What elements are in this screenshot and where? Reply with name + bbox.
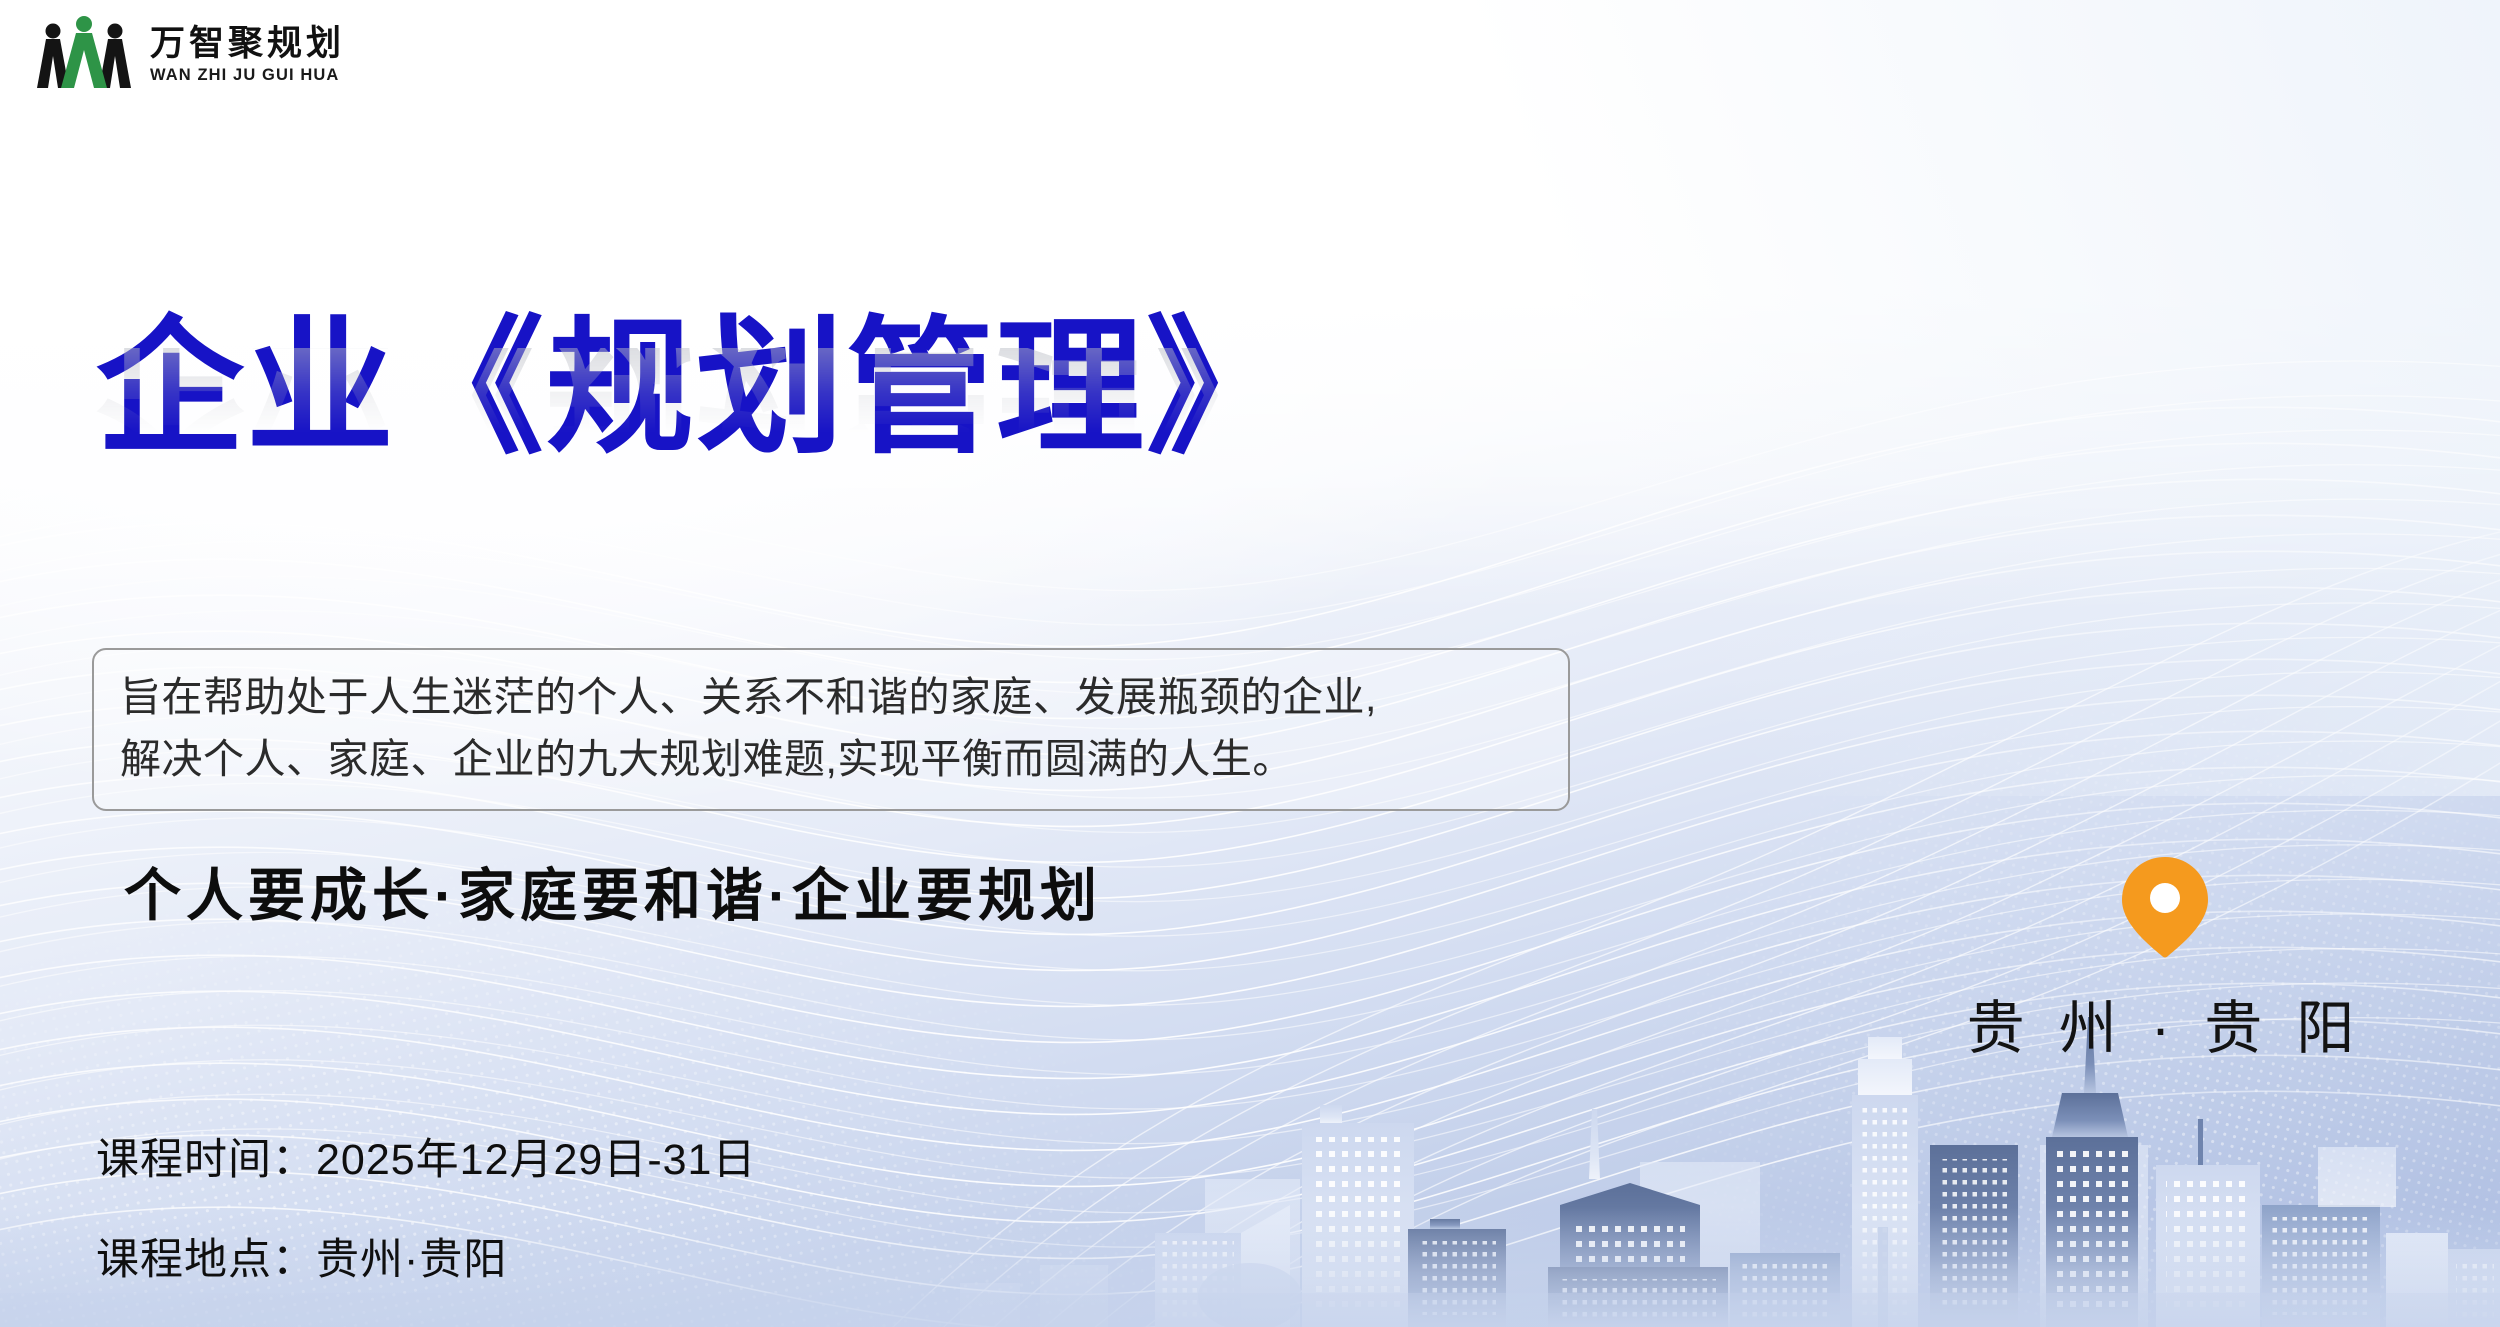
course-location-row: 课程地点：贵州·贵阳 [96,1225,756,1287]
poster-canvas: 万智聚规划 WAN ZHI JU GUI HUA 企业《规划管理》 企业《规划管… [0,0,2500,1327]
location-city-label: 贵 州 · 贵 阳 [1967,981,2364,1065]
location-badge: 贵 州 · 贵 阳 [1955,855,2375,1065]
page-title-reflection: 企业《规划管理》 [96,348,1296,466]
description-box: 旨在帮助处于人生迷茫的个人、关系不和谐的家庭、发展瓶颈的企业, 解决个人、家庭、… [92,648,1570,811]
three-people-logo-icon [32,16,136,94]
description-line-1: 旨在帮助处于人生迷茫的个人、关系不和谐的家庭、发展瓶颈的企业, [120,666,1542,728]
course-time-label: 课程时间： [96,1136,316,1184]
brand-logo: 万智聚规划 WAN ZHI JU GUI HUA [32,16,345,94]
brand-name-cn: 万智聚规划 [150,25,345,63]
hero-slogan: 个人要成长·家庭要和谐·企业要规划 [124,850,1102,932]
course-meta: 课程时间：2025年12月29日-31日 课程地点：贵州·贵阳 [96,1125,756,1287]
course-location-value: 贵州·贵阳 [316,1236,507,1284]
hero-title-block: 企业《规划管理》 企业《规划管理》 [96,312,1296,584]
brand-name-en: WAN ZHI JU GUI HUA [150,66,345,85]
brand-logo-text: 万智聚规划 WAN ZHI JU GUI HUA [150,25,345,85]
course-time-row: 课程时间：2025年12月29日-31日 [96,1125,756,1187]
map-pin-icon [2119,855,2211,959]
course-location-label: 课程地点： [96,1236,316,1284]
course-time-value: 2025年12月29日-31日 [316,1136,756,1184]
description-line-2: 解决个人、家庭、企业的九大规划难题,实现平衡而圆满的人生。 [120,728,1542,790]
